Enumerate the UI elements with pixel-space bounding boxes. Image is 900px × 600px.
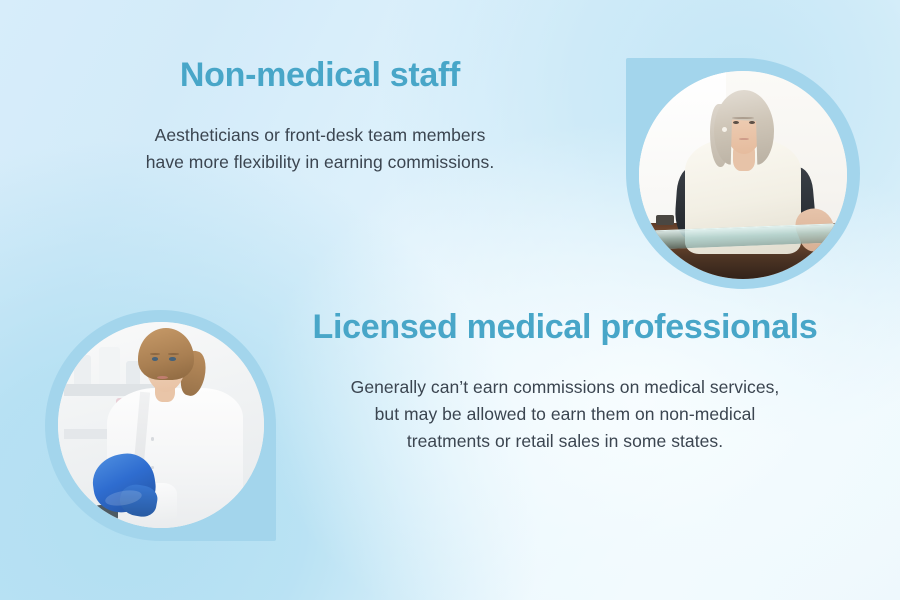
slide-canvas: Non-medical staff Aestheticians or front…: [0, 0, 900, 600]
non-medical-staff-heading: Non-medical staff: [55, 56, 585, 94]
body-line: have more flexibility in earning commiss…: [55, 149, 585, 176]
reception-photo-blob: [626, 58, 860, 289]
clinician-photo: [58, 322, 264, 528]
body-line: Generally can’t earn commissions on medi…: [255, 374, 875, 401]
reception-desk-object: [656, 215, 675, 225]
licensed-medical-professionals-body: Generally can’t earn commissions on medi…: [255, 374, 875, 455]
clinician-button-1: [151, 437, 154, 440]
clinician-brow-right: [168, 353, 178, 355]
clinician-lip: [157, 376, 168, 379]
body-line: Aestheticians or front-desk team members: [55, 122, 585, 149]
licensed-medical-professionals-block: Licensed medical professionals Generally…: [255, 308, 875, 455]
clinician-brow-left: [150, 353, 160, 355]
non-medical-staff-block: Non-medical staff Aestheticians or front…: [55, 56, 585, 176]
body-line: but may be allowed to earn them on non-m…: [255, 401, 875, 428]
clinician-photo-art: [58, 322, 264, 528]
reception-brow: [732, 117, 755, 119]
reception-photo: [639, 71, 847, 279]
clinician-hair: [138, 328, 194, 380]
clinician-photo-blob: [45, 310, 276, 541]
clinic-bottle-2: [99, 347, 120, 386]
licensed-medical-professionals-heading: Licensed medical professionals: [255, 308, 875, 346]
non-medical-staff-body: Aestheticians or front-desk team members…: [55, 122, 585, 176]
clinician-eye-right: [169, 357, 176, 361]
clinic-bottle-1: [74, 355, 90, 386]
clinician-eye-left: [152, 357, 159, 361]
reception-photo-art: [639, 71, 847, 279]
body-line: treatments or retail sales in some state…: [255, 428, 875, 455]
